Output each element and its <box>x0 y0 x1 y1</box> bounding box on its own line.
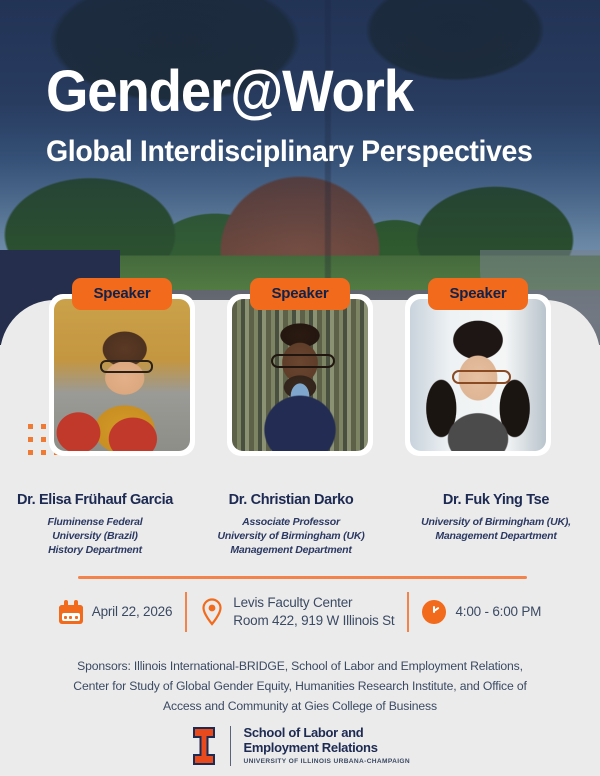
logo-wordmark: School of Labor and Employment Relations… <box>243 726 410 765</box>
logo-separator <box>230 726 232 766</box>
speaker-name: Dr. Christian Darko <box>202 492 380 508</box>
status-badge: Speaker <box>428 278 529 310</box>
speaker-affiliation: Associate Professor University of Birmin… <box>202 515 380 558</box>
speaker-info: Dr. Elisa Frühauf Garcia Fluminense Fede… <box>6 492 184 558</box>
speaker-affiliation: Fluminense Federal University (Brazil) H… <box>6 515 184 558</box>
avatar-frame <box>49 294 195 456</box>
status-badge: Speaker <box>250 278 351 310</box>
event-location-text: Levis Faculty Center Room 422, 919 W Ill… <box>233 594 394 630</box>
speaker-card: Speaker <box>398 278 558 456</box>
speaker-card: Speaker <box>220 278 380 456</box>
avatar-frame <box>405 294 551 456</box>
avatar <box>54 299 190 451</box>
event-date-text: April 22, 2026 <box>92 603 173 621</box>
logo-line-2: Employment Relations <box>243 741 410 756</box>
section-divider <box>78 576 527 579</box>
avatar <box>232 299 368 451</box>
avatar <box>410 299 546 451</box>
calendar-icon <box>59 600 83 624</box>
logo-line-3: UNIVERSITY OF ILLINOIS URBANA-CHAMPAIGN <box>243 758 410 765</box>
event-date: April 22, 2026 <box>59 600 173 624</box>
page-subtitle: Global Interdisciplinary Perspectives <box>46 135 540 169</box>
speaker-name-list: Dr. Elisa Frühauf Garcia Fluminense Fede… <box>0 492 600 558</box>
vertical-divider <box>185 592 187 632</box>
status-badge: Speaker <box>72 278 173 310</box>
map-pin-icon <box>200 597 224 627</box>
speaker-name: Dr. Fuk Ying Tse <box>398 492 594 508</box>
speaker-affiliation: University of Birmingham (UK), Managemen… <box>398 515 594 543</box>
event-time-text: 4:00 - 6:00 PM <box>455 603 541 621</box>
event-time: 4:00 - 6:00 PM <box>422 600 541 624</box>
speaker-name: Dr. Elisa Frühauf Garcia <box>6 492 184 508</box>
speaker-info: Dr. Christian Darko Associate Professor … <box>202 492 380 558</box>
event-location: Levis Faculty Center Room 422, 919 W Ill… <box>200 594 394 630</box>
event-details: April 22, 2026 Levis Faculty Center Room… <box>0 592 600 632</box>
sponsors-text: Sponsors: Illinois International-BRIDGE,… <box>40 657 560 716</box>
speaker-card-list: Speaker Speaker Speaker <box>0 278 600 456</box>
event-poster: Gender@Work Global Interdisciplinary Per… <box>0 0 600 776</box>
organization-logo: School of Labor and Employment Relations… <box>0 726 600 766</box>
illinois-block-i-icon <box>190 726 218 766</box>
page-title: Gender@Work <box>46 62 535 121</box>
vertical-divider <box>407 592 409 632</box>
avatar-frame <box>227 294 373 456</box>
logo-line-1: School of Labor and <box>243 726 410 741</box>
speaker-info: Dr. Fuk Ying Tse University of Birmingha… <box>398 492 594 558</box>
clock-icon <box>422 600 446 624</box>
title-block: Gender@Work Global Interdisciplinary Per… <box>46 62 566 169</box>
speaker-card: Speaker <box>42 278 202 456</box>
